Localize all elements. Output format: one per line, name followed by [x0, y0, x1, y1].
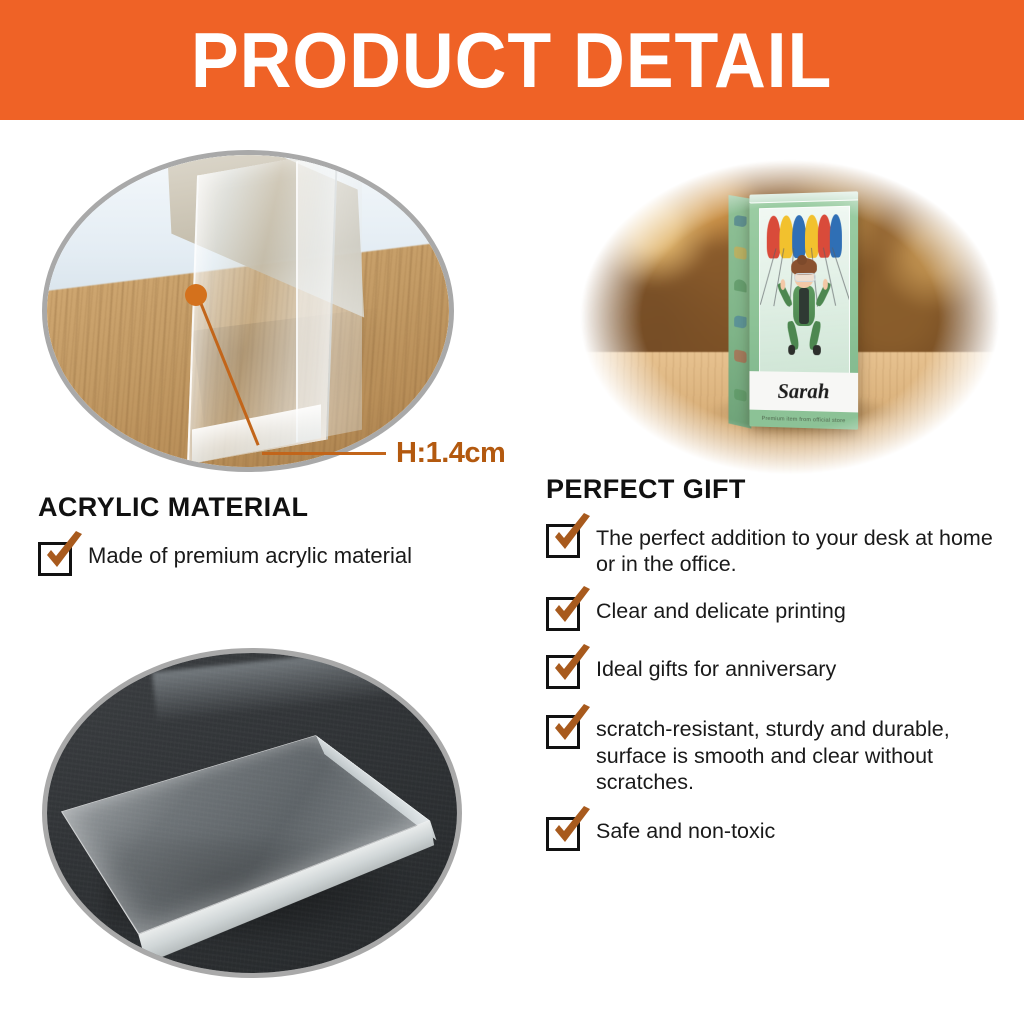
- box-name-band: Sarah: [749, 371, 858, 413]
- checkmark-icon: [548, 513, 594, 559]
- leader-line-horizontal: [262, 452, 386, 455]
- gift-box: Sarah Premium item from official store: [749, 191, 858, 430]
- right-boot: [813, 345, 820, 355]
- page-header-banner: PRODUCT DETAIL: [0, 0, 1024, 120]
- box-display-window: [759, 206, 850, 375]
- box-tagline: Premium item from official store: [761, 415, 845, 423]
- checkbox-icon[interactable]: [38, 542, 72, 576]
- hair-bun: [797, 255, 806, 266]
- list-item: Clear and delicate printing: [546, 595, 998, 631]
- feature-list-acrylic-material: Made of premium acrylic material: [38, 540, 508, 594]
- skydiver-figurine: [782, 257, 825, 353]
- list-item: Ideal gifts for anniversary: [546, 653, 998, 689]
- checkbox-icon[interactable]: [546, 597, 580, 631]
- airplane-icon: [734, 214, 747, 228]
- bottle-icon: [734, 247, 747, 261]
- list-item: Made of premium acrylic material: [38, 540, 508, 576]
- bottle-icon: [734, 349, 747, 363]
- box-front-panel: Sarah Premium item from official store: [749, 191, 858, 430]
- dimension-marker-dot: [185, 284, 207, 306]
- checkmark-icon: [548, 586, 594, 632]
- right-hand: [822, 278, 828, 290]
- parachute-icon: [734, 279, 747, 293]
- checkmark-icon: [548, 806, 594, 852]
- checkmark-icon: [40, 531, 86, 577]
- list-item: scratch-resistant, sturdy and durable, s…: [546, 713, 998, 795]
- list-item-label: Ideal gifts for anniversary: [596, 653, 836, 682]
- product-box-photo: Sarah Premium item from official store: [578, 158, 1002, 476]
- goggles-icon: [793, 273, 816, 283]
- product-detail-page: PRODUCT DETAIL H:1.4cm: [0, 0, 1024, 1024]
- list-item-label: Safe and non-toxic: [596, 815, 775, 844]
- airplane-icon: [734, 315, 747, 329]
- left-boot: [787, 345, 794, 355]
- acrylic-side-face: [296, 150, 362, 442]
- page-title: PRODUCT DETAIL: [191, 21, 832, 99]
- checkbox-icon[interactable]: [546, 817, 580, 851]
- list-item-label: Clear and delicate printing: [596, 595, 846, 624]
- box-tagline-band: Premium item from official store: [749, 409, 858, 430]
- list-item-label: Made of premium acrylic material: [88, 540, 412, 570]
- list-item: The perfect addition to your desk at hom…: [546, 522, 998, 577]
- checkbox-icon[interactable]: [546, 524, 580, 558]
- acrylic-block-photo: [42, 648, 462, 978]
- gift-icon: [734, 388, 747, 402]
- box-side-panel: [728, 195, 751, 429]
- list-item-label: The perfect addition to your desk at hom…: [596, 522, 998, 577]
- personalized-name: Sarah: [777, 379, 829, 404]
- checkbox-icon[interactable]: [546, 655, 580, 689]
- list-item: Safe and non-toxic: [546, 815, 998, 851]
- dimension-label: H:1.4cm: [396, 437, 505, 470]
- harness: [799, 288, 809, 324]
- list-item-label: scratch-resistant, sturdy and durable, s…: [596, 713, 998, 795]
- section-heading-perfect-gift: PERFECT GIFT: [546, 474, 746, 505]
- checkbox-icon[interactable]: [546, 715, 580, 749]
- feature-list-perfect-gift: The perfect addition to your desk at hom…: [546, 522, 998, 869]
- checkmark-icon: [548, 704, 594, 750]
- checkmark-icon: [548, 644, 594, 690]
- section-heading-acrylic-material: ACRYLIC MATERIAL: [38, 492, 308, 523]
- left-hand: [780, 279, 785, 290]
